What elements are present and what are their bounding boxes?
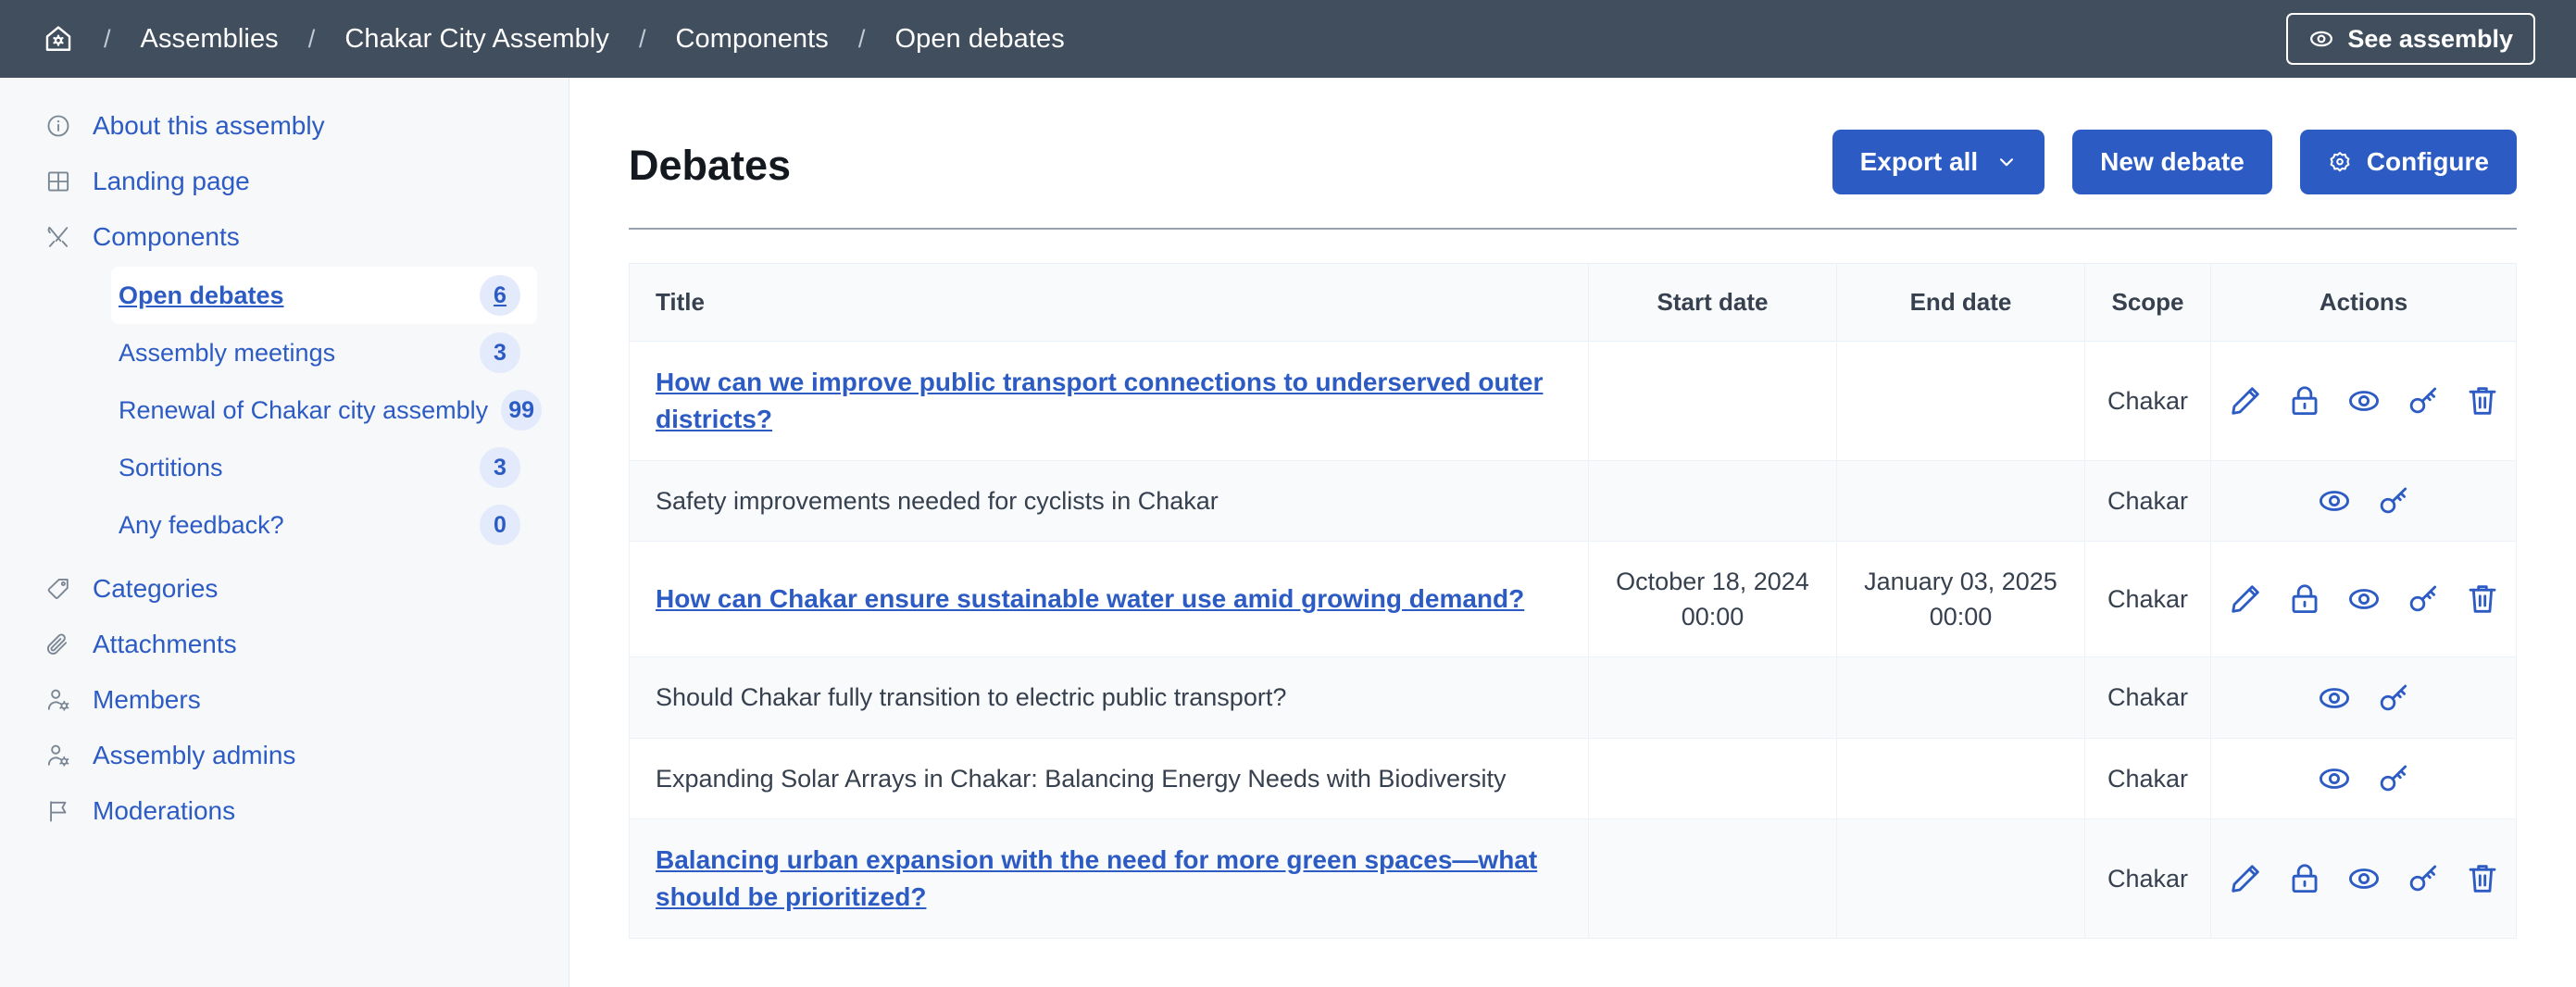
cell-end-date: January 03, 2025 00:00 (1837, 541, 2085, 657)
cell-start-date (1589, 460, 1837, 541)
key-icon[interactable] (2404, 381, 2443, 420)
sidebar-sub-label: Sortitions (119, 454, 223, 482)
breadcrumb-separator-2: / (639, 25, 646, 54)
row-action-buttons (2211, 567, 2516, 631)
sidebar-item-assembly-meetings[interactable]: Assembly meetings 3 (111, 324, 537, 381)
breadcrumb-chakar-city-assembly[interactable]: Chakar City Assembly (344, 24, 609, 55)
breadcrumb-assemblies[interactable]: Assemblies (141, 24, 279, 55)
pencil-icon[interactable] (2226, 580, 2265, 618)
trash-icon[interactable] (2463, 381, 2502, 420)
paperclip-icon (44, 631, 72, 658)
cell-title: Balancing urban expansion with the need … (630, 819, 1589, 939)
column-header-actions: Actions (2211, 264, 2517, 342)
cell-start-date (1589, 819, 1837, 939)
tag-icon (44, 575, 72, 603)
sidebar-count-badge: 0 (480, 505, 520, 545)
sidebar-label: Members (93, 685, 201, 715)
cell-actions (2211, 738, 2517, 818)
breadcrumb-open-debates[interactable]: Open debates (894, 24, 1064, 55)
export-all-label: Export all (1860, 147, 1979, 177)
trash-icon[interactable] (2463, 859, 2502, 898)
cell-start-date: October 18, 2024 00:00 (1589, 541, 1837, 657)
breadcrumb: / Assemblies / Chakar City Assembly / Co… (43, 23, 1065, 55)
sidebar-item-about-this-assembly[interactable]: About this assembly (0, 98, 569, 154)
table-header-row: Title Start date End date Scope Actions (630, 264, 2517, 342)
sidebar-item-open-debates[interactable]: Open debates 6 (111, 267, 537, 324)
configure-label: Configure (2367, 147, 2489, 177)
cell-title: How can we improve public transport conn… (630, 342, 1589, 461)
table-row: How can Chakar ensure sustainable water … (630, 541, 2517, 657)
sidebar-label: Landing page (93, 167, 250, 196)
column-header-end-date[interactable]: End date (1837, 264, 2085, 342)
table-row: Balancing urban expansion with the need … (630, 819, 2517, 939)
sidebar-item-attachments[interactable]: Attachments (0, 617, 569, 672)
debate-title-text: Should Chakar fully transition to electr… (656, 683, 1286, 711)
cell-start-date (1589, 738, 1837, 818)
sidebar-item-moderations[interactable]: Moderations (0, 783, 569, 839)
sidebar-label: Attachments (93, 630, 237, 659)
debate-title-link[interactable]: How can Chakar ensure sustainable water … (656, 584, 1524, 613)
page-title: Debates (629, 143, 791, 189)
cell-actions (2211, 819, 2517, 939)
eye-icon[interactable] (2315, 481, 2354, 520)
layout-grid-icon (44, 168, 72, 195)
cell-actions (2211, 541, 2517, 657)
sidebar-item-assembly-admins[interactable]: Assembly admins (0, 728, 569, 783)
sidebar-sub-label: Assembly meetings (119, 339, 335, 368)
table-row: How can we improve public transport conn… (630, 342, 2517, 461)
pencil-icon[interactable] (2226, 859, 2265, 898)
cell-title: Expanding Solar Arrays in Chakar: Balanc… (630, 738, 1589, 818)
lock-icon[interactable] (2285, 381, 2324, 420)
debate-title-link[interactable]: How can we improve public transport conn… (656, 368, 1543, 433)
cell-scope: Chakar (2085, 657, 2211, 738)
components-sublist: Open debates 6 Assembly meetings 3 Renew… (0, 267, 569, 554)
breadcrumb-separator-0: / (104, 25, 111, 54)
breadcrumb-separator-3: / (858, 25, 866, 54)
see-assembly-button[interactable]: See assembly (2286, 13, 2535, 65)
cell-scope: Chakar (2085, 541, 2211, 657)
key-icon[interactable] (2374, 481, 2413, 520)
sidebar-item-landing-page[interactable]: Landing page (0, 154, 569, 209)
table-body: How can we improve public transport conn… (630, 342, 2517, 939)
cell-end-date (1837, 460, 2085, 541)
row-action-buttons (2211, 469, 2516, 533)
eye-icon[interactable] (2345, 859, 2383, 898)
debate-title-text: Expanding Solar Arrays in Chakar: Balanc… (656, 765, 1506, 793)
cell-scope: Chakar (2085, 460, 2211, 541)
sidebar-item-members[interactable]: Members (0, 672, 569, 728)
gear-icon (2328, 150, 2352, 174)
sidebar-label: Categories (93, 574, 218, 604)
sidebar-label: Components (93, 222, 240, 252)
row-action-buttons (2211, 846, 2516, 911)
user-settings-icon (44, 742, 72, 769)
column-header-scope[interactable]: Scope (2085, 264, 2211, 342)
page-action-buttons: Export all New debate Configu (1832, 130, 2517, 194)
key-icon[interactable] (2374, 679, 2413, 718)
cell-scope: Chakar (2085, 819, 2211, 939)
cell-scope: Chakar (2085, 342, 2211, 461)
flag-icon (44, 797, 72, 825)
cell-start-date (1589, 342, 1837, 461)
debates-table-wrapper: Title Start date End date Scope Actions … (629, 263, 2517, 939)
pencil-icon[interactable] (2226, 381, 2265, 420)
cell-actions (2211, 657, 2517, 738)
cell-end-date (1837, 342, 2085, 461)
cell-end-date (1837, 657, 2085, 738)
user-settings-icon (44, 686, 72, 714)
sidebar-label: Moderations (93, 796, 235, 826)
cell-end-date (1837, 738, 2085, 818)
eye-icon[interactable] (2345, 580, 2383, 618)
info-circle-icon (44, 112, 72, 140)
row-action-buttons (2211, 666, 2516, 731)
debate-title-link[interactable]: Balancing urban expansion with the need … (656, 845, 1537, 911)
cell-end-date (1837, 819, 2085, 939)
cell-scope: Chakar (2085, 738, 2211, 818)
sidebar-item-components[interactable]: Components (0, 209, 569, 265)
new-debate-label: New debate (2100, 147, 2245, 177)
home-gear-icon[interactable] (43, 23, 74, 55)
eye-icon[interactable] (2315, 679, 2354, 718)
new-debate-button[interactable]: New debate (2072, 130, 2272, 194)
eye-icon (2308, 26, 2334, 52)
row-action-buttons (2211, 369, 2516, 433)
top-breadcrumb-bar: / Assemblies / Chakar City Assembly / Co… (0, 0, 2576, 78)
admin-sidebar: About this assembly Landing page Compone… (0, 78, 569, 987)
table-row: Expanding Solar Arrays in Chakar: Balanc… (630, 738, 2517, 818)
sidebar-item-sortitions[interactable]: Sortitions 3 (111, 439, 537, 496)
see-assembly-label: See assembly (2347, 25, 2513, 54)
debates-table: Title Start date End date Scope Actions … (629, 263, 2517, 939)
sidebar-sub-label: Any feedback? (119, 511, 284, 540)
configure-button[interactable]: Configure (2300, 130, 2517, 194)
row-action-buttons (2211, 746, 2516, 811)
breadcrumb-components[interactable]: Components (675, 24, 828, 55)
cell-actions (2211, 342, 2517, 461)
eye-icon[interactable] (2345, 381, 2383, 420)
breadcrumb-separator-1: / (308, 25, 316, 54)
cell-actions (2211, 460, 2517, 541)
sidebar-sub-label: Renewal of Chakar city assembly (119, 396, 488, 425)
sidebar-count-badge: 99 (501, 390, 542, 431)
table-row: Safety improvements needed for cyclists … (630, 460, 2517, 541)
trash-icon[interactable] (2463, 580, 2502, 618)
sidebar-item-renewal-of-chakar-city-assembly[interactable]: Renewal of Chakar city assembly 99 (111, 381, 537, 439)
chevron-down-icon (1996, 152, 2017, 172)
sidebar-count-badge: 6 (480, 275, 520, 316)
lock-icon[interactable] (2285, 859, 2324, 898)
sidebar-item-categories[interactable]: Categories (0, 561, 569, 617)
tools-icon (44, 223, 72, 251)
main-content: Debates Export all New debate (569, 78, 2576, 987)
sidebar-sub-label: Open debates (119, 281, 284, 310)
sidebar-label: Assembly admins (93, 741, 295, 770)
cell-start-date (1589, 657, 1837, 738)
key-icon[interactable] (2374, 759, 2413, 798)
export-all-button[interactable]: Export all (1832, 130, 2045, 194)
debate-title-text: Safety improvements needed for cyclists … (656, 487, 1219, 515)
table-row: Should Chakar fully transition to electr… (630, 657, 2517, 738)
cell-title: Safety improvements needed for cyclists … (630, 460, 1589, 541)
key-icon[interactable] (2404, 580, 2443, 618)
page-header: Debates Export all New debate (629, 130, 2517, 230)
sidebar-count-badge: 3 (480, 447, 520, 488)
sidebar-item-any-feedback[interactable]: Any feedback? 0 (111, 496, 537, 554)
cell-title: How can Chakar ensure sustainable water … (630, 541, 1589, 657)
key-icon[interactable] (2404, 859, 2443, 898)
lock-icon[interactable] (2285, 580, 2324, 618)
table-head: Title Start date End date Scope Actions (630, 264, 2517, 342)
eye-icon[interactable] (2315, 759, 2354, 798)
sidebar-label: About this assembly (93, 111, 325, 141)
column-header-start-date[interactable]: Start date (1589, 264, 1837, 342)
column-header-title[interactable]: Title (630, 264, 1589, 342)
cell-title: Should Chakar fully transition to electr… (630, 657, 1589, 738)
sidebar-count-badge: 3 (480, 332, 520, 373)
